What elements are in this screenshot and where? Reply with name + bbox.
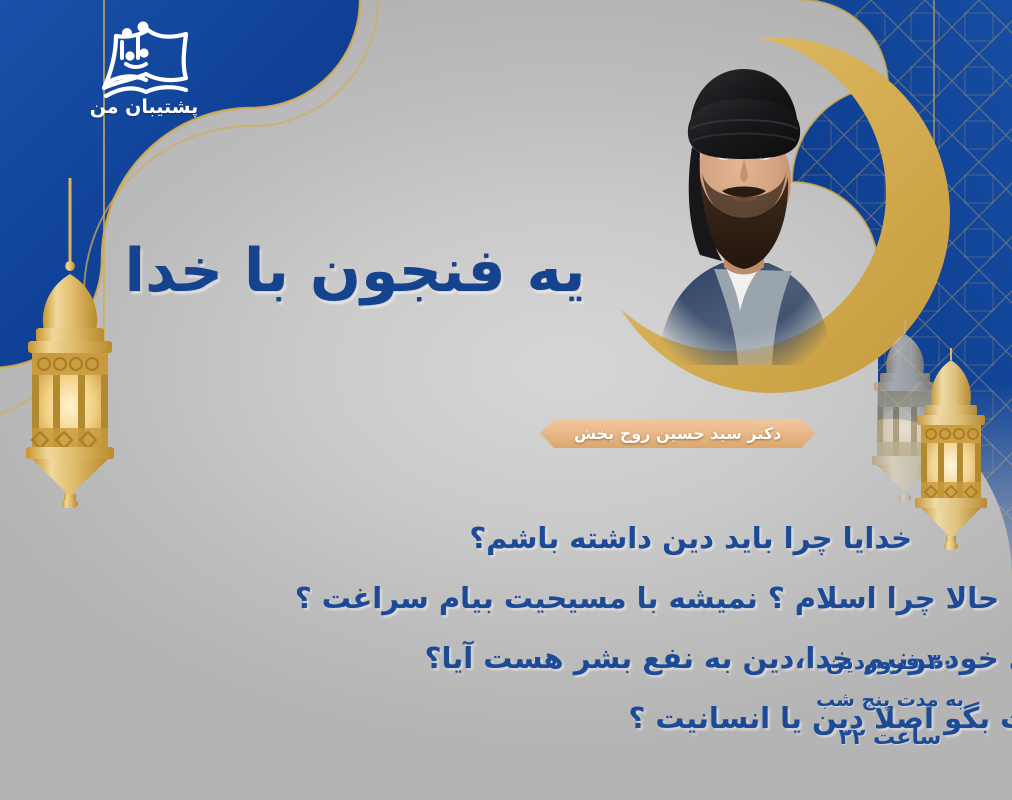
page-title: یه فنجون با خدا <box>120 236 590 306</box>
lantern-right-front <box>905 348 997 562</box>
lantern-left <box>16 178 124 512</box>
brand-logo-label: پشتیبان من <box>74 96 214 118</box>
speaker-portrait <box>640 55 845 365</box>
schedule-duration: به مدت پنج شب <box>790 689 990 711</box>
poster-canvas: پشتیبان من <box>0 0 1012 800</box>
schedule-time: ساعت ۲۲ <box>790 725 990 750</box>
question-line-2: حالا چرا اسلام ؟ نمیشه با مسیحیت بیام سر… <box>82 584 999 613</box>
lantern-right-front-svg <box>905 348 997 558</box>
speaker-name-badge: دکتر سید حسین روح بخش <box>540 419 815 448</box>
questions-list: خدایا چرا باید دین داشته باشم؟ حالا چرا … <box>82 524 912 764</box>
schedule-block: ۳۰ فروردین به مدت پنج شب ساعت ۲۲ <box>790 650 990 750</box>
lantern-left-svg <box>16 178 124 508</box>
question-line-1: خدایا چرا باید دین داشته باشم؟ <box>82 524 912 553</box>
schedule-date: ۳۰ فروردین <box>790 650 990 675</box>
portrait-svg <box>640 55 845 365</box>
